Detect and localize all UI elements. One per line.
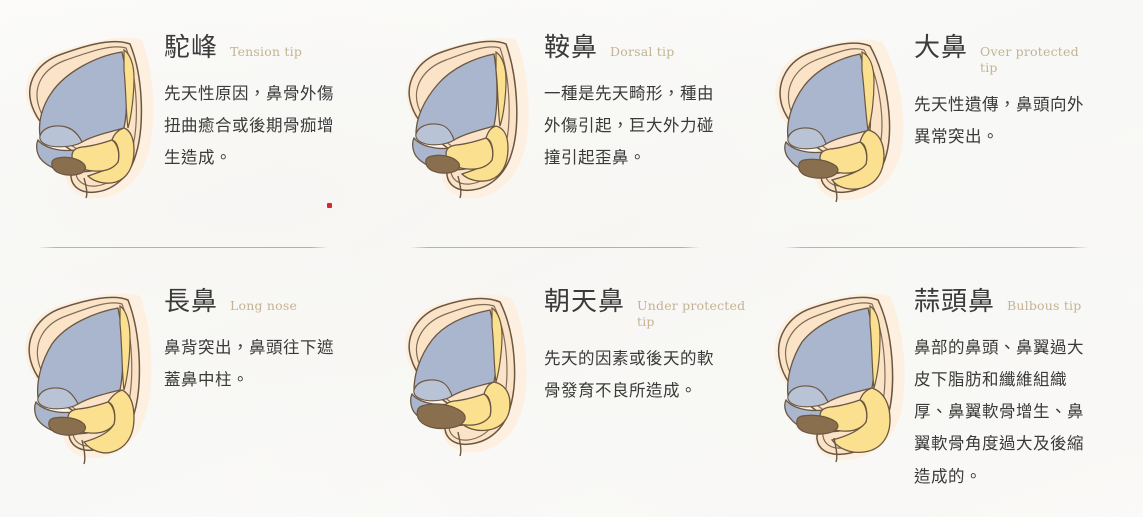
card-heading: 駝峰 Tension tip: [164, 34, 380, 64]
card-title-zh: 蒜頭鼻: [914, 288, 995, 318]
card-description: 鼻部的鼻頭、鼻翼過大皮下脂肪和纖維組織厚、鼻翼軟骨增生、鼻翼軟骨角度過大及後縮造…: [914, 332, 1092, 493]
card-title-zh: 鞍鼻: [544, 34, 598, 64]
nose-type-card-long-nose[interactable]: 長鼻 Long nose 鼻背突出，鼻頭往下遮蓋鼻中柱。: [0, 248, 380, 517]
nose-type-grid: 駝峰 Tension tip 先天性原因，鼻骨外傷扭曲癒合或後期骨痂增生造成。: [0, 0, 1143, 517]
card-heading: 蒜頭鼻 Bulbous tip: [914, 288, 1143, 318]
card-description: 鼻背突出，鼻頭往下遮蓋鼻中柱。: [164, 332, 342, 396]
nose-type-card-tension-tip[interactable]: 駝峰 Tension tip 先天性原因，鼻骨外傷扭曲癒合或後期骨痂增生造成。: [0, 0, 380, 248]
card-title-en: Bulbous tip: [1007, 298, 1081, 314]
card-text-block: 蒜頭鼻 Bulbous tip 鼻部的鼻頭、鼻翼過大皮下脂肪和纖維組織厚、鼻翼軟…: [914, 284, 1143, 493]
card-description: 一種是先天畸形，種由外傷引起，巨大外力碰撞引起歪鼻。: [544, 78, 722, 175]
card-title-zh: 長鼻: [164, 288, 218, 318]
card-text-block: 長鼻 Long nose 鼻背突出，鼻頭往下遮蓋鼻中柱。: [164, 284, 380, 396]
nose-type-card-over-protected-tip[interactable]: 大鼻 Over protected tip 先天性遺傳，鼻頭向外異常突出。: [750, 0, 1143, 248]
stray-marker-dot: [327, 203, 332, 208]
card-title-zh: 大鼻: [914, 34, 968, 64]
card-description: 先天性遺傳，鼻頭向外異常突出。: [914, 89, 1092, 153]
nose-illustration-tension-tip: [14, 30, 164, 205]
card-text-block: 朝天鼻 Under protected tip 先天的因素或後天的軟骨發育不良所…: [544, 284, 750, 408]
nose-illustration-over-protected-tip: [764, 30, 914, 205]
card-title-en: Tension tip: [230, 44, 302, 60]
card-description: 先天的因素或後天的軟骨發育不良所造成。: [544, 343, 722, 407]
card-title-zh: 朝天鼻: [544, 288, 625, 318]
nose-illustration-under-protected-tip: [394, 284, 544, 469]
card-title-en: Under protected tip: [637, 298, 747, 329]
nose-illustration-dorsal-tip: [394, 30, 544, 205]
card-title-en: Long nose: [230, 298, 297, 314]
nose-illustration-long-nose: [14, 284, 164, 469]
nose-type-card-bulbous-tip[interactable]: 蒜頭鼻 Bulbous tip 鼻部的鼻頭、鼻翼過大皮下脂肪和纖維組織厚、鼻翼軟…: [750, 248, 1143, 517]
nose-type-card-dorsal-tip[interactable]: 鞍鼻 Dorsal tip 一種是先天畸形，種由外傷引起，巨大外力碰撞引起歪鼻。: [380, 0, 750, 248]
card-heading: 大鼻 Over protected tip: [914, 34, 1143, 75]
card-title-zh: 駝峰: [164, 34, 218, 64]
nose-type-card-under-protected-tip[interactable]: 朝天鼻 Under protected tip 先天的因素或後天的軟骨發育不良所…: [380, 248, 750, 517]
card-title-en: Over protected tip: [980, 44, 1090, 75]
card-heading: 朝天鼻 Under protected tip: [544, 288, 750, 329]
card-heading: 長鼻 Long nose: [164, 288, 380, 318]
card-text-block: 鞍鼻 Dorsal tip 一種是先天畸形，種由外傷引起，巨大外力碰撞引起歪鼻。: [544, 30, 750, 174]
card-text-block: 大鼻 Over protected tip 先天性遺傳，鼻頭向外異常突出。: [914, 30, 1143, 154]
card-title-en: Dorsal tip: [610, 44, 674, 60]
card-heading: 鞍鼻 Dorsal tip: [544, 34, 750, 64]
card-description: 先天性原因，鼻骨外傷扭曲癒合或後期骨痂增生造成。: [164, 78, 342, 175]
card-text-block: 駝峰 Tension tip 先天性原因，鼻骨外傷扭曲癒合或後期骨痂增生造成。: [164, 30, 380, 174]
nose-illustration-bulbous-tip: [764, 284, 914, 469]
